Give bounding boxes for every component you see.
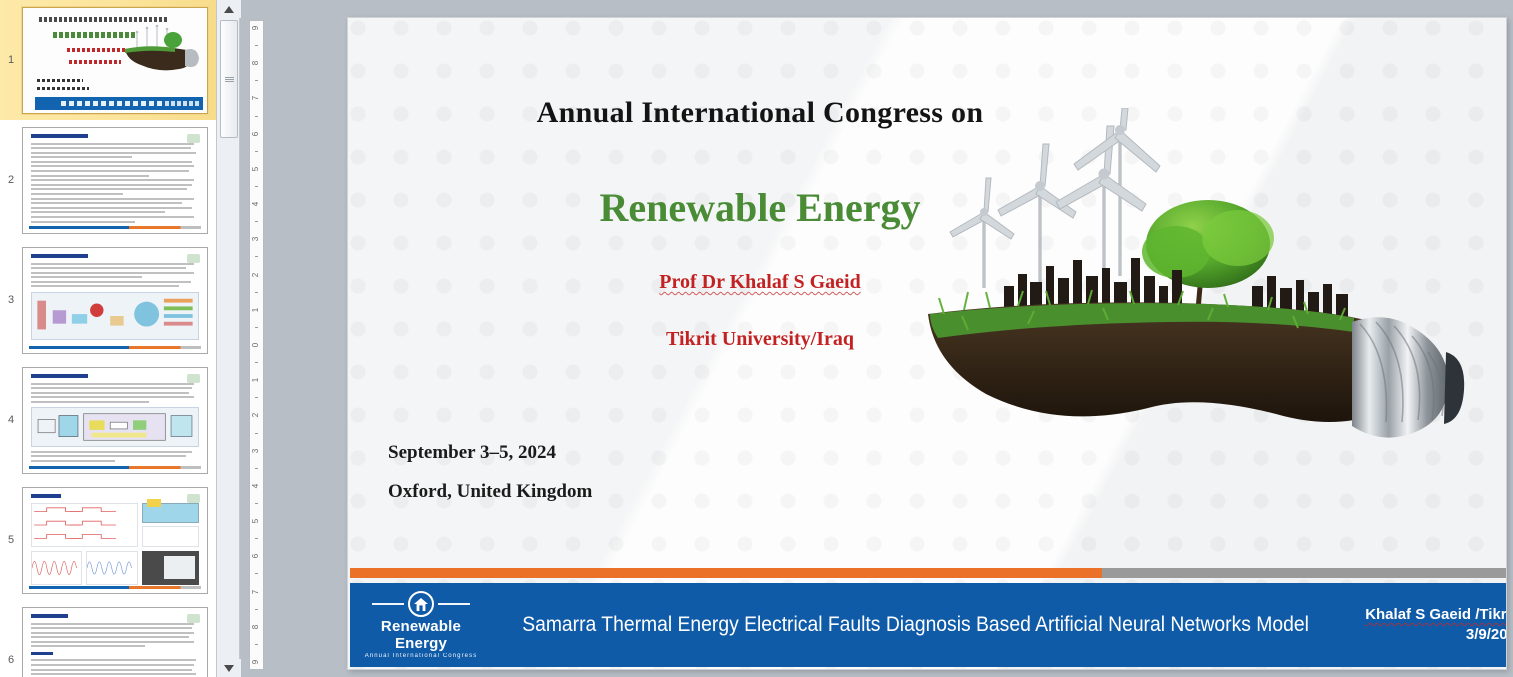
slide-thumbnail-3[interactable]: 3 xyxy=(0,240,216,360)
mini-waveform-grid xyxy=(31,503,199,547)
triangle-up-icon xyxy=(224,6,234,13)
event-location[interactable]: Oxford, United Kingdom xyxy=(388,481,808,503)
triangle-down-icon xyxy=(224,665,234,672)
mini-footer-bar xyxy=(29,466,201,469)
mini-logo-icon xyxy=(187,494,200,503)
slide-number-4: 4 xyxy=(0,414,22,426)
slide-number-3: 3 xyxy=(0,294,22,306)
slide-number-2: 2 xyxy=(0,174,22,186)
slide-number-5: 5 xyxy=(0,534,22,546)
ruler-mark: 3 xyxy=(252,448,260,452)
scroll-down-button[interactable] xyxy=(217,659,241,677)
mini-title-slide xyxy=(23,8,207,113)
mini-author-line xyxy=(67,48,125,52)
footer-presenter: Khalaf S Gaeid /Tikrir University/Iraq xyxy=(1349,605,1507,625)
footer-date: 3/9/2024 xyxy=(1349,625,1507,645)
mini-block-diagram xyxy=(31,292,199,340)
mini-footer-bar xyxy=(35,97,203,110)
ruler-mark: 5 xyxy=(252,519,260,523)
ruler-mark: 1 xyxy=(252,308,260,312)
mini-logo-icon xyxy=(187,254,200,263)
slide-thumbnail-pane[interactable]: 1 xyxy=(0,0,216,677)
ruler-mark: 6 xyxy=(252,554,260,558)
mini-chart-slide xyxy=(23,488,207,593)
vertical-ruler[interactable]: 9 8 7 6 5 4 3 2 1 0 1 2 3 4 5 6 7 8 9 xyxy=(249,20,264,670)
accent-bar xyxy=(350,568,1507,578)
mini-heading xyxy=(31,254,88,258)
ruler-mark: 2 xyxy=(252,272,260,276)
slide-number-6: 6 xyxy=(0,654,22,666)
mini-footer-bar xyxy=(29,226,201,229)
accent-bar-orange xyxy=(350,568,1102,578)
ruler-mark: 3 xyxy=(252,237,260,241)
ruler-mark: 0 xyxy=(252,343,260,347)
mini-footer-bar xyxy=(29,586,201,589)
mini-heading xyxy=(31,614,68,618)
ruler-mark: 7 xyxy=(252,96,260,100)
ruler-mark: 7 xyxy=(252,589,260,593)
ruler-mark: 5 xyxy=(252,167,260,171)
mini-heading xyxy=(31,494,61,498)
scrollbar-thumb[interactable] xyxy=(220,20,238,138)
slide-thumbnail-5-preview[interactable] xyxy=(22,487,208,594)
mini-diagram-slide xyxy=(23,248,207,353)
slide-thumbnail-4[interactable]: 4 xyxy=(0,360,216,480)
logo-rule-right xyxy=(438,603,470,605)
logo-name: Renewable Energy xyxy=(360,618,482,652)
slide-number-1: 1 xyxy=(0,54,22,66)
mini-date-line xyxy=(37,79,83,82)
wind-turbine-group xyxy=(950,108,1160,288)
author-text: Prof Dr Khalaf S Gaeid xyxy=(659,271,860,293)
scroll-up-button[interactable] xyxy=(217,0,241,18)
slide-footer: Renewable Energy Annual International Co… xyxy=(350,583,1507,667)
mini-text-slide xyxy=(23,128,207,233)
mini-diagram-slide xyxy=(23,368,207,473)
mini-logo-icon xyxy=(187,374,200,383)
thumbnail-scrollbar[interactable] xyxy=(216,0,240,677)
slide-thumbnail-6-preview[interactable] xyxy=(22,607,208,677)
slide-thumbnail-2-preview[interactable] xyxy=(22,127,208,234)
slide-thumbnail-4-preview[interactable] xyxy=(22,367,208,474)
slide-thumbnail-5[interactable]: 5 xyxy=(0,480,216,600)
footer-running-title[interactable]: Samarra Thermal Energy Electrical Faults… xyxy=(517,613,1315,637)
mini-location-line xyxy=(37,87,89,90)
mini-conclusion-slide xyxy=(23,608,207,677)
home-in-circle-icon xyxy=(408,591,434,617)
slide-canvas[interactable]: Annual International Congress on Renewab… xyxy=(347,17,1507,670)
logo-rule-left xyxy=(372,603,404,605)
slide-thumbnail-3-preview[interactable] xyxy=(22,247,208,354)
mini-heading xyxy=(31,374,88,378)
mini-plant-diagram xyxy=(31,407,199,447)
mini-lightbulb-icon xyxy=(121,22,201,74)
ruler-mark: 9 xyxy=(252,26,260,30)
congress-logo: Renewable Energy Annual International Co… xyxy=(360,591,482,659)
logo-subtitle: Annual International Congress xyxy=(360,653,482,659)
ruler-mark: 6 xyxy=(252,131,260,135)
powerpoint-window: 1 xyxy=(0,0,1513,677)
slide-thumbnail-6[interactable]: 6 xyxy=(0,600,216,677)
ruler-mark: 9 xyxy=(252,660,260,664)
bulb-base-icon xyxy=(1352,317,1464,437)
slide-thumbnail-2[interactable]: 2 xyxy=(0,120,216,240)
event-date[interactable]: September 3–5, 2024 xyxy=(388,442,808,464)
mini-logo-icon xyxy=(187,614,200,623)
mini-affiliation-line xyxy=(69,60,121,64)
mini-waveform-row2 xyxy=(31,551,199,585)
mini-logo-icon xyxy=(187,134,200,143)
mini-heading xyxy=(31,134,88,138)
home-icon xyxy=(413,597,429,612)
slide-thumbnail-1-preview[interactable] xyxy=(22,7,208,114)
scrollbar-grip-icon xyxy=(225,77,234,82)
ruler-mark: 2 xyxy=(252,413,260,417)
ruler-mark: 4 xyxy=(252,484,260,488)
ruler-mark: 4 xyxy=(252,202,260,206)
renewable-energy-lightbulb-image[interactable] xyxy=(908,108,1488,488)
ruler-mark: 8 xyxy=(252,61,260,65)
slide-thumbnail-1[interactable]: 1 xyxy=(0,0,216,120)
ruler-mark: 8 xyxy=(252,624,260,628)
footer-presenter-block[interactable]: Khalaf S Gaeid /Tikrir University/Iraq 3… xyxy=(1349,605,1507,646)
logo-mark xyxy=(360,591,482,617)
mini-footer-bar xyxy=(29,346,201,349)
ruler-mark: 1 xyxy=(252,378,260,382)
